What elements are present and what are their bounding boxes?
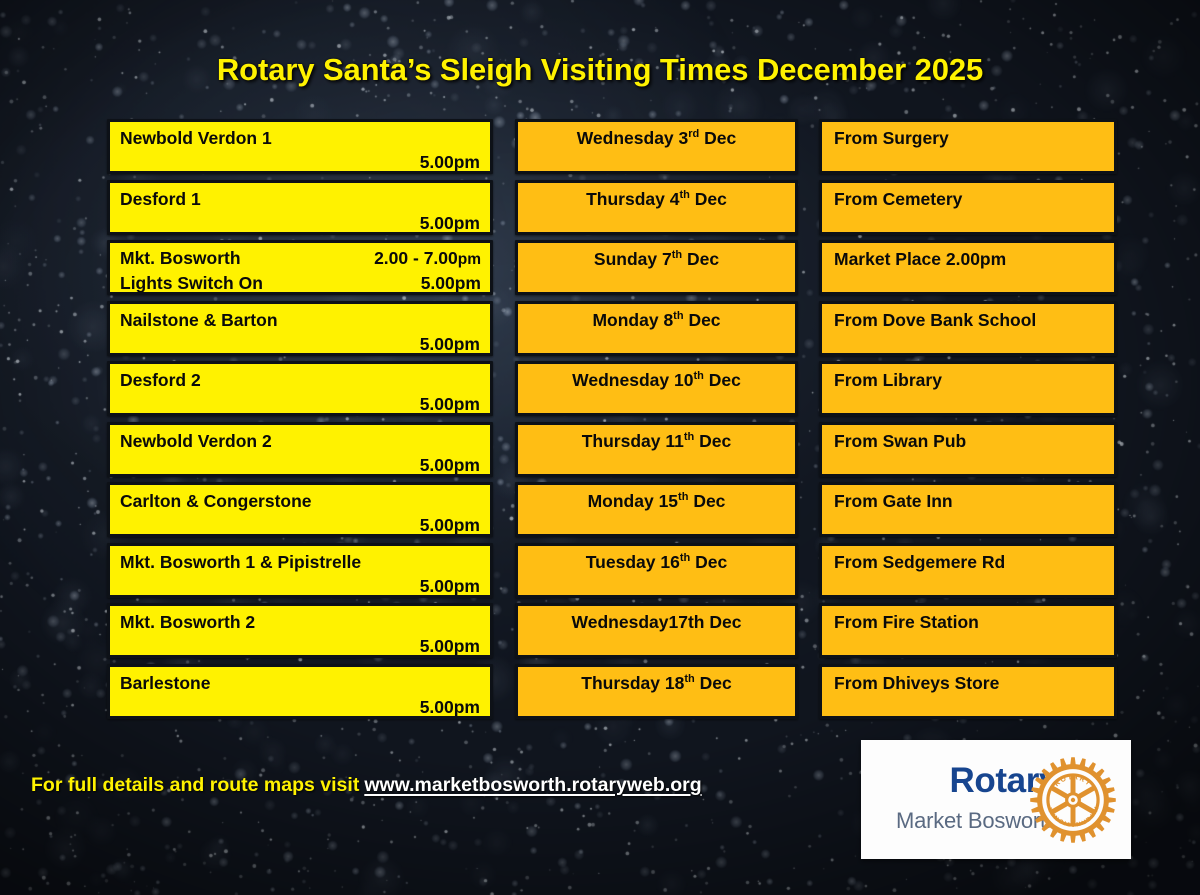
visit-time: 2.00 - 7.00pm — [374, 247, 481, 271]
location-cell: Mkt. Bosworth2.00 - 7.00pmLights Switch … — [107, 240, 493, 295]
date-ordinal-suffix: th — [680, 552, 690, 564]
date-weekday: Monday — [588, 491, 654, 511]
start-point-cell: From Cemetery — [819, 180, 1117, 235]
start-point-text: From Dove Bank School — [834, 309, 1114, 332]
date-text: Wednesday17th Dec — [572, 611, 742, 655]
visit-time-meridiem: pm — [458, 251, 481, 268]
date-weekday: Sunday — [594, 249, 657, 269]
schedule-row: Mkt. Bosworth 25.00pmWednesday17th DecFr… — [0, 603, 1200, 664]
date-cell: Monday 15th Dec — [515, 482, 798, 537]
date-month: Dec — [687, 249, 719, 269]
location-cell: Carlton & Congerstone5.00pm — [107, 482, 493, 537]
visit-time: 5.00pm — [120, 634, 481, 658]
location-name: Barlestone — [120, 671, 481, 695]
date-ordinal-suffix: rd — [688, 128, 699, 140]
start-point-text: From Sedgemere Rd — [834, 551, 1114, 574]
date-number: 4 — [670, 189, 680, 209]
visit-time-line2: 5.00pm — [421, 271, 481, 295]
date-text: Sunday 7th Dec — [594, 248, 719, 292]
start-point-text: From Gate Inn — [834, 490, 1114, 513]
date-month: Dec — [693, 491, 725, 511]
visit-time: 5.00pm — [120, 574, 481, 598]
location-cell: Desford 15.00pm — [107, 180, 493, 235]
date-cell: Wednesday 3rd Dec — [515, 119, 798, 174]
date-ordinal-suffix: th — [693, 370, 703, 382]
date-ordinal-suffix: th — [684, 431, 694, 443]
location-cell: Nailstone & Barton5.00pm — [107, 301, 493, 356]
location-name: Carlton & Congerstone — [120, 489, 481, 513]
location-cell: Barlestone5.00pm — [107, 664, 493, 719]
date-weekday: Monday — [592, 310, 658, 330]
date-cell: Thursday 4th Dec — [515, 180, 798, 235]
schedule-grid: Newbold Verdon 15.00pmWednesday 3rd DecF… — [0, 119, 1200, 724]
date-month: Dec — [709, 370, 741, 390]
schedule-row: Nailstone & Barton5.00pmMonday 8th DecFr… — [0, 301, 1200, 362]
location-name: Mkt. Bosworth 1 & Pipistrelle — [120, 550, 481, 574]
date-cell: Monday 8th Dec — [515, 301, 798, 356]
date-ordinal-suffix: th — [672, 249, 682, 261]
start-point-cell: From Dove Bank School — [819, 301, 1117, 356]
visit-time: 5.00pm — [120, 392, 481, 416]
schedule-row: Newbold Verdon 15.00pmWednesday 3rd DecF… — [0, 119, 1200, 180]
visit-time: 5.00pm — [120, 150, 481, 174]
website-link[interactable]: www.marketbosworth.rotaryweb.org — [364, 774, 701, 796]
date-cell: Thursday 18th Dec — [515, 664, 798, 719]
date-text: Wednesday 3rd Dec — [577, 127, 737, 171]
location-name: Newbold Verdon 2 — [120, 429, 481, 453]
date-number: 7 — [662, 249, 672, 269]
date-weekday: Thursday — [581, 673, 660, 693]
date-weekday: Wednesday — [577, 128, 674, 148]
date-weekday: Thursday — [582, 431, 661, 451]
date-weekday: Tuesday — [586, 552, 656, 572]
date-number: 11 — [665, 431, 684, 451]
start-point-cell: From Surgery — [819, 119, 1117, 174]
location-cell: Newbold Verdon 25.00pm — [107, 422, 493, 477]
start-point-cell: From Sedgemere Rd — [819, 543, 1117, 598]
date-ordinal-suffix: th — [673, 310, 683, 322]
location-name: Mkt. Bosworth 2 — [120, 610, 481, 634]
date-cell: Tuesday 16th Dec — [515, 543, 798, 598]
location-name: Nailstone & Barton — [120, 308, 481, 332]
start-point-text: Market Place 2.00pm — [834, 248, 1114, 271]
start-point-text: From Cemetery — [834, 188, 1114, 211]
location-name: Desford 2 — [120, 368, 481, 392]
visit-time: 5.00pm — [120, 695, 481, 719]
start-point-cell: From Gate Inn — [819, 482, 1117, 537]
date-cell: Wednesday 10th Dec — [515, 361, 798, 416]
date-month: Dec — [704, 128, 736, 148]
date-text: Monday 8th Dec — [592, 309, 720, 353]
poster-canvas: Rotary Santa’s Sleigh Visiting Times Dec… — [0, 0, 1200, 895]
date-ordinal-suffix: th — [684, 673, 694, 685]
location-cell: Newbold Verdon 15.00pm — [107, 119, 493, 174]
schedule-row: Mkt. Bosworth2.00 - 7.00pmLights Switch … — [0, 240, 1200, 301]
location-name: Desford 1 — [120, 187, 481, 211]
visit-time: 5.00pm — [120, 332, 481, 356]
location-cell: Mkt. Bosworth 1 & Pipistrelle5.00pm — [107, 543, 493, 598]
date-ordinal-suffix: th — [678, 491, 688, 503]
start-point-text: From Surgery — [834, 127, 1114, 150]
start-point-text: From Fire Station — [834, 611, 1114, 634]
start-point-cell: From Fire Station — [819, 603, 1117, 658]
page-title: Rotary Santa’s Sleigh Visiting Times Dec… — [0, 52, 1200, 88]
schedule-row: Barlestone5.00pmThursday 18th DecFrom Dh… — [0, 664, 1200, 725]
date-number: 15 — [659, 491, 678, 511]
date-month: Dec — [695, 189, 727, 209]
date-month: Dec — [688, 310, 720, 330]
location-name-line2: Lights Switch On — [120, 271, 263, 295]
date-month: Dec — [700, 673, 732, 693]
start-point-cell: From Dhiveys Store — [819, 664, 1117, 719]
date-number: 16 — [660, 552, 679, 572]
schedule-row: Carlton & Congerstone5.00pmMonday 15th D… — [0, 482, 1200, 543]
date-month: Dec — [695, 552, 727, 572]
date-text: Thursday 18th Dec — [581, 672, 732, 716]
date-number: 10 — [674, 370, 693, 390]
start-point-text: From Dhiveys Store — [834, 672, 1114, 695]
date-number: 8 — [663, 310, 673, 330]
date-month: Dec — [699, 431, 731, 451]
start-point-cell: Market Place 2.00pm — [819, 240, 1117, 295]
location-name: Mkt. Bosworth — [120, 247, 241, 270]
date-text: Thursday 11th Dec — [582, 430, 732, 474]
start-point-text: From Library — [834, 369, 1114, 392]
rotary-wheel-icon: ROTARY INTERNATIONAL — [1027, 754, 1119, 846]
date-ordinal-suffix: th — [680, 189, 690, 201]
date-cell: Thursday 11th Dec — [515, 422, 798, 477]
location-cell: Mkt. Bosworth 25.00pm — [107, 603, 493, 658]
footer-note: For full details and route maps visitwww… — [31, 774, 702, 797]
date-cell: Sunday 7th Dec — [515, 240, 798, 295]
schedule-row: Desford 25.00pmWednesday 10th DecFrom Li… — [0, 361, 1200, 422]
date-cell: Wednesday17th Dec — [515, 603, 798, 658]
date-text: Wednesday 10th Dec — [572, 369, 741, 413]
date-weekday: Thursday — [586, 189, 665, 209]
visit-time: 5.00pm — [120, 211, 481, 235]
date-number: 3 — [679, 128, 689, 148]
date-weekday: Wednesday — [572, 370, 669, 390]
start-point-cell: From Library — [819, 361, 1117, 416]
visit-time: 5.00pm — [120, 453, 481, 477]
schedule-row: Mkt. Bosworth 1 & Pipistrelle5.00pmTuesd… — [0, 543, 1200, 604]
schedule-row: Desford 15.00pmThursday 4th DecFrom Ceme… — [0, 180, 1200, 241]
rotary-logo-card: Rotary Market Bosworth ROTARY INTERNAT — [861, 740, 1131, 859]
date-text: Tuesday 16th Dec — [586, 551, 727, 595]
date-text: Thursday 4th Dec — [586, 188, 727, 232]
footer-lead-text: For full details and route maps visit — [31, 774, 359, 796]
visit-time: 5.00pm — [120, 513, 481, 537]
schedule-row: Newbold Verdon 25.00pmThursday 11th DecF… — [0, 422, 1200, 483]
start-point-text: From Swan Pub — [834, 430, 1114, 453]
date-number: 18 — [665, 673, 684, 693]
date-text: Monday 15th Dec — [588, 490, 726, 534]
location-name: Newbold Verdon 1 — [120, 126, 481, 150]
location-cell: Desford 25.00pm — [107, 361, 493, 416]
visit-time-value: 2.00 - 7.00 — [374, 248, 458, 268]
start-point-cell: From Swan Pub — [819, 422, 1117, 477]
